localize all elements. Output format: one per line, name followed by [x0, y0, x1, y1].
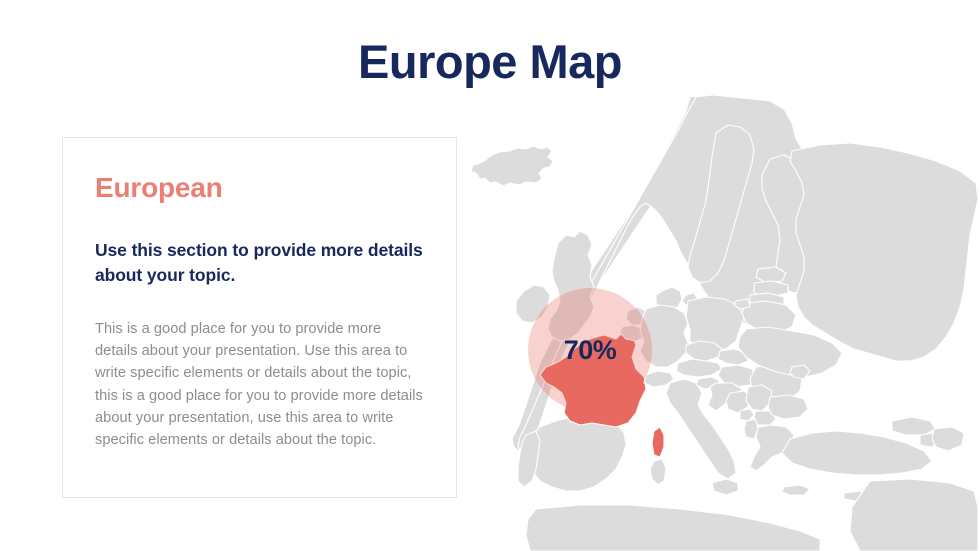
map-country-turkey	[782, 431, 932, 475]
map-marker-value: 70%	[564, 335, 617, 366]
map-region-north-africa	[526, 505, 820, 551]
map-marker-bubble[interactable]: 70%	[528, 288, 652, 412]
map-country-crete	[782, 485, 810, 495]
map-country-sicily	[712, 479, 738, 495]
map-country-montenegro	[740, 409, 754, 421]
text-card: European Use this section to provide mor…	[62, 137, 457, 498]
map-country-austria	[676, 359, 722, 377]
europe-map-svg	[440, 95, 980, 551]
map-country-russia	[790, 143, 978, 361]
map-country-georgia	[892, 417, 936, 435]
map-country-iceland	[471, 146, 553, 186]
map-country-sardinia	[650, 459, 666, 485]
card-body-text: This is a good place for you to provide …	[95, 318, 425, 451]
card-subheading: Use this section to provide more details…	[95, 238, 425, 289]
map-country-corsica-highlighted	[652, 427, 664, 457]
map-country-bulgaria	[768, 395, 808, 419]
map-country-azerbaijan	[932, 427, 964, 451]
card-heading: European	[95, 172, 223, 204]
page-title: Europe Map	[0, 36, 980, 88]
europe-map-container: 70%	[440, 95, 980, 551]
map-region-middle-east	[850, 479, 978, 551]
slide-canvas: Europe Map European Use this section to …	[0, 0, 980, 551]
map-country-ukraine	[738, 327, 842, 377]
